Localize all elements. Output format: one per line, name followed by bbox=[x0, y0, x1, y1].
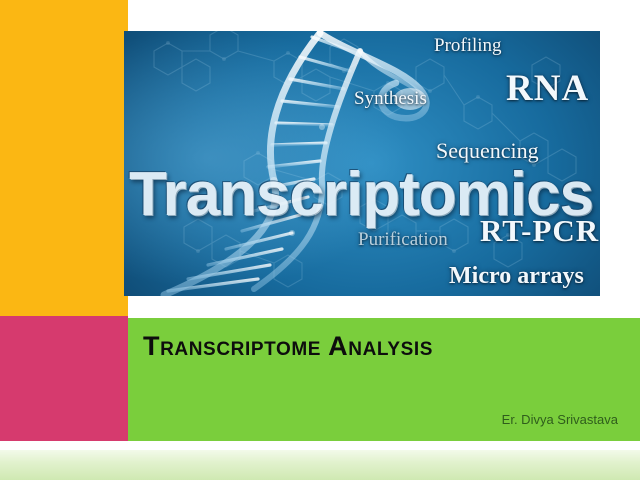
orange-accent-bar bbox=[0, 0, 128, 316]
picture-label-profiling: Profiling bbox=[434, 35, 502, 57]
picture-label-purification: Purification bbox=[358, 229, 448, 251]
slide-canvas: Transcriptomics Profiling RNA Synthesis … bbox=[0, 0, 640, 480]
slide-author: Er. Divya Srivastava bbox=[128, 412, 618, 427]
transcriptomics-image: Transcriptomics Profiling RNA Synthesis … bbox=[124, 31, 600, 296]
slide-title: Transcriptome Analysis bbox=[143, 331, 433, 362]
picture-label-micro-arrays: Micro arrays bbox=[449, 263, 584, 290]
picture-label-rt-pcr: RT-PCR bbox=[480, 213, 599, 249]
picture-label-rna: RNA bbox=[506, 67, 589, 110]
picture-label-sequencing: Sequencing bbox=[436, 138, 539, 164]
bottom-gradient-strip bbox=[0, 450, 640, 480]
pink-accent-bar bbox=[0, 316, 128, 441]
picture-label-synthesis: Synthesis bbox=[354, 88, 427, 110]
bottom-white-gap bbox=[0, 441, 640, 450]
